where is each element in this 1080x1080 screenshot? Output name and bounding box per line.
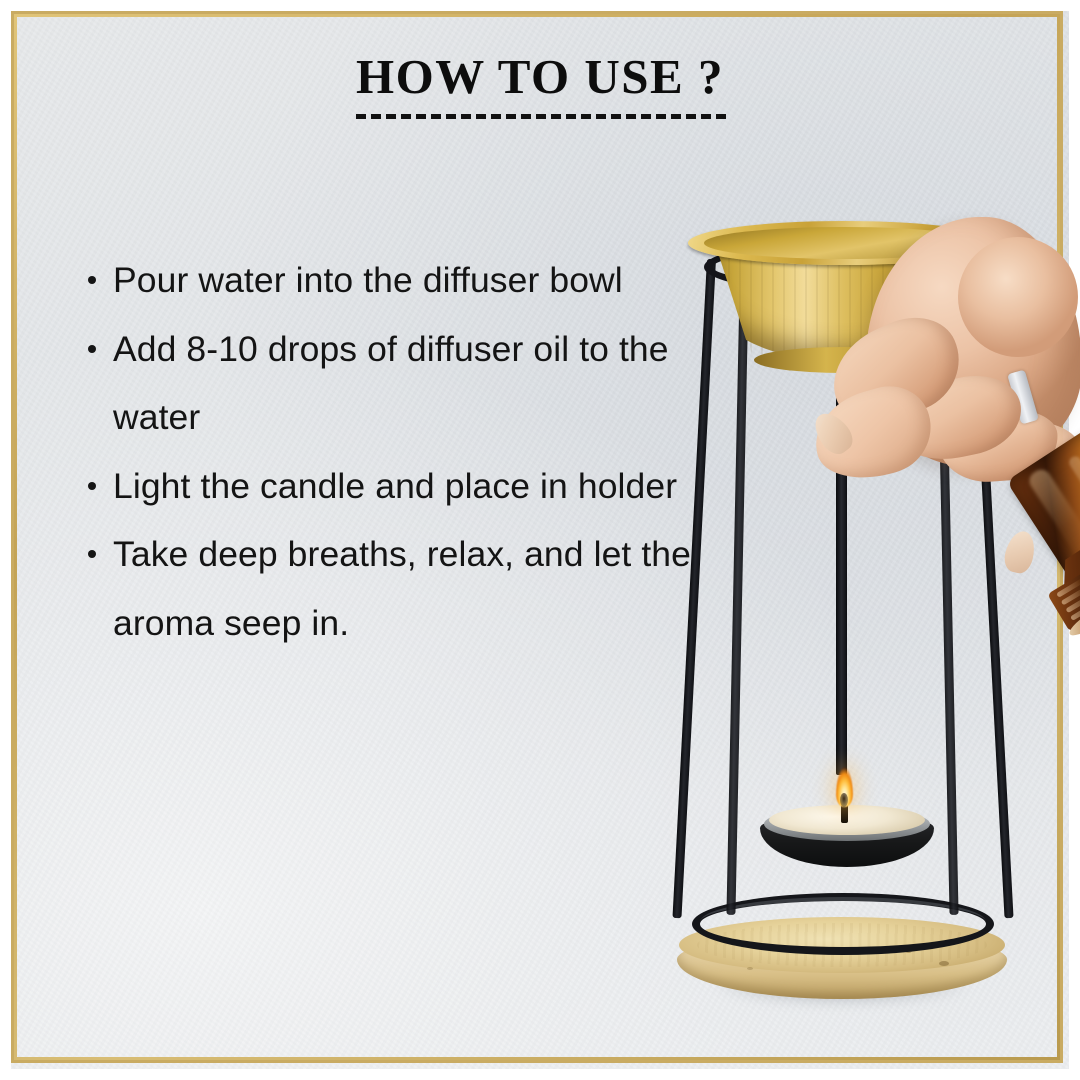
bullet-dot-icon (88, 276, 96, 284)
bullet-dot-icon (88, 482, 96, 490)
list-item: Take deep breaths, relax, and let the ar… (84, 520, 724, 657)
hand-holding-oil-bottle (808, 213, 1080, 603)
tealight-candle (760, 797, 934, 871)
bullet-dot-icon (88, 550, 96, 558)
hand-knuckles (958, 237, 1078, 357)
stand-base-ring-highlight (700, 897, 986, 947)
step-text: Light the candle and place in holder (113, 466, 677, 506)
bullet-dot-icon (88, 345, 96, 353)
wood-speck (939, 961, 949, 966)
list-item: Add 8-10 drops of diffuser oil to the wa… (84, 315, 724, 452)
page-title-container: HOW TO USE ? (0, 52, 1080, 101)
wood-speck (747, 967, 753, 970)
step-text: Take deep breaths, relax, and let the ar… (113, 534, 691, 643)
list-item: Pour water into the diffuser bowl (84, 246, 724, 315)
how-to-use-steps-list: Pour water into the diffuser bowl Add 8-… (84, 246, 724, 657)
step-text: Pour water into the diffuser bowl (113, 260, 623, 300)
title-dashed-divider (356, 114, 726, 119)
page-title: HOW TO USE ? (356, 52, 724, 101)
candle-flame-core (840, 793, 848, 807)
step-text: Add 8-10 drops of diffuser oil to the wa… (113, 329, 669, 438)
how-to-use-poster: HOW TO USE ? Pour water into the diffuse… (0, 0, 1080, 1080)
list-item: Light the candle and place in holder (84, 452, 724, 521)
